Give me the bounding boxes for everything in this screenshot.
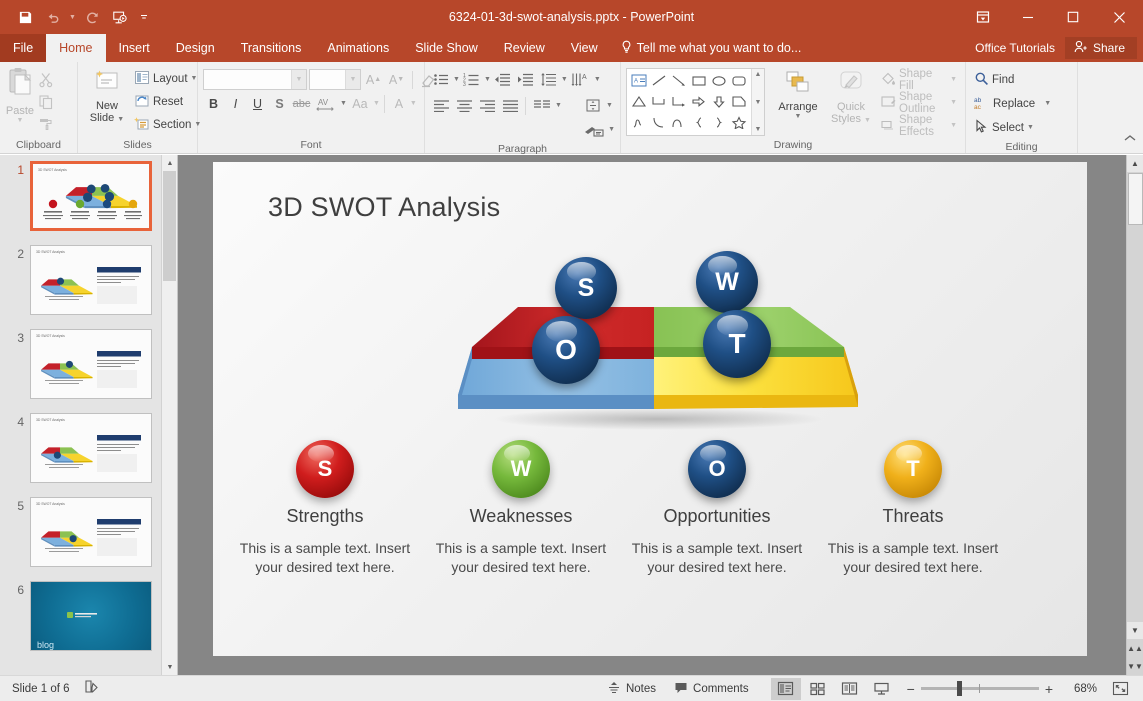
slide-thumbnail-1[interactable]: 1 3D SWOT Analysis: [0, 155, 177, 239]
tab-animations[interactable]: Animations: [314, 34, 402, 62]
slide-show-view-button[interactable]: [867, 678, 897, 700]
search-icon: [974, 71, 989, 89]
find-label: Find: [992, 74, 1014, 86]
scrollbar-thumb[interactable]: [1128, 173, 1143, 225]
legend-text-threats[interactable]: This is a sample text. Insert your desir…: [818, 539, 1008, 577]
font-color-dropdown-icon[interactable]: ▼: [410, 100, 417, 107]
cut-icon[interactable]: [35, 69, 57, 90]
tab-review[interactable]: Review: [491, 34, 558, 62]
layout-label: Layout: [153, 73, 188, 85]
legend-name-opportunities: Opportunities: [622, 506, 812, 527]
zoom-level[interactable]: 68%: [1063, 683, 1097, 695]
ribbon-group-paragraph: ▼ 123 ▼ ▼ A: [425, 62, 621, 153]
slide-number-4: 4: [8, 413, 24, 429]
reset-button[interactable]: Reset: [131, 91, 204, 112]
font-name-dropdown-icon[interactable]: ▼: [291, 70, 306, 89]
legend-orb-s: S: [296, 440, 354, 498]
present-icon[interactable]: [107, 5, 133, 29]
share-label: Share: [1093, 41, 1125, 55]
swot-3d-platform[interactable]: S W O T: [458, 267, 858, 427]
shape-arc-icon[interactable]: [669, 112, 689, 133]
tab-view[interactable]: View: [558, 34, 611, 62]
font-name-input[interactable]: ▼: [203, 69, 307, 90]
shape-rectangle-icon[interactable]: [689, 70, 709, 91]
maximize-icon[interactable]: [1050, 0, 1095, 34]
shape-elbow-connector-icon[interactable]: [649, 91, 669, 112]
tab-row-right: Office Tutorials Share: [965, 34, 1143, 62]
line-spacing-icon[interactable]: [538, 69, 560, 90]
shape-fill-button[interactable]: Shape Fill ▼: [877, 69, 960, 90]
shape-effects-button[interactable]: Shape Effects ▼: [877, 115, 960, 136]
align-right-icon[interactable]: [476, 95, 498, 116]
thumb-scrollbar-thumb[interactable]: [163, 171, 176, 281]
slide-thumb-image-2[interactable]: 3D SWOT Analysis: [30, 245, 152, 315]
svg-text:ac: ac: [974, 104, 982, 110]
numbering-icon[interactable]: 123: [461, 69, 483, 90]
platform-marker-o[interactable]: O: [532, 316, 600, 384]
increase-font-size-icon[interactable]: A▲: [363, 69, 384, 90]
change-case-button[interactable]: Aa: [348, 93, 372, 114]
shape-effects-icon: [880, 117, 896, 135]
tell-me-text: Tell me what you want to do...: [637, 41, 802, 55]
font-color-button[interactable]: A: [389, 93, 409, 114]
slide-number-2: 2: [8, 245, 24, 261]
shape-effects-label: Shape Effects: [899, 114, 947, 138]
svg-text:blog: blog: [37, 640, 54, 650]
platform-marker-w[interactable]: W: [696, 251, 758, 313]
bullets-icon[interactable]: [430, 69, 452, 90]
legend-item-strengths[interactable]: S Strengths This is a sample text. Inser…: [230, 440, 420, 577]
replace-button[interactable]: abac Replace ▼: [971, 93, 1054, 114]
ribbon-display-options-icon[interactable]: [960, 0, 1005, 34]
svg-text:A: A: [582, 74, 587, 81]
paste-icon: [5, 67, 35, 104]
align-text-icon[interactable]: [581, 95, 605, 116]
zoom-track[interactable]: [921, 687, 1039, 690]
account-name[interactable]: Office Tutorials: [965, 41, 1065, 55]
justify-icon[interactable]: [499, 95, 521, 116]
shape-star-icon[interactable]: [729, 112, 749, 133]
previous-slide-icon[interactable]: ▲▲: [1127, 640, 1143, 657]
new-slide-button[interactable]: New Slide ▼: [83, 67, 131, 126]
slide-thumb-image-5[interactable]: 3D SWOT Analysis: [30, 497, 152, 567]
shape-right-arrow-icon[interactable]: [689, 91, 709, 112]
slide-title[interactable]: 3D SWOT Analysis: [268, 192, 500, 223]
shape-fill-label: Shape Fill: [899, 68, 947, 92]
ribbon-group-drawing: A: [621, 62, 966, 153]
svg-text:ab: ab: [974, 97, 982, 104]
replace-icon: abac: [974, 95, 990, 113]
arrange-icon: [782, 70, 814, 99]
shape-rounded-rect-icon[interactable]: [729, 70, 749, 91]
legend-item-opportunities[interactable]: O Opportunities This is a sample text. I…: [622, 440, 812, 577]
quick-styles-label-2: Styles: [831, 113, 861, 125]
ribbon: Paste ▼ Clipboard: [0, 62, 1143, 154]
next-slide-icon[interactable]: ▼▼: [1127, 658, 1143, 675]
shape-outline-button[interactable]: Shape Outline ▼: [877, 92, 960, 113]
zoom-handle[interactable]: [957, 681, 962, 696]
thumb-scroll-down-icon[interactable]: ▼: [162, 659, 178, 675]
font-size-dropdown-icon[interactable]: ▼: [345, 70, 360, 89]
group-label-font: Font: [198, 138, 424, 153]
powerpoint-window: ▼ 6324-01-3d-swot-analysis.pptx - PowerP…: [0, 0, 1143, 701]
select-button[interactable]: Select ▼: [971, 117, 1054, 138]
bold-button[interactable]: B: [203, 93, 224, 114]
legend-name-threats: Threats: [818, 506, 1008, 527]
group-label-drawing: Drawing: [621, 138, 965, 153]
align-left-icon[interactable]: [430, 95, 452, 116]
tell-me-search[interactable]: Tell me what you want to do...: [611, 34, 812, 62]
notes-page-icon[interactable]: [84, 679, 100, 699]
underline-button[interactable]: U: [247, 93, 268, 114]
fit-to-window-icon[interactable]: [1105, 678, 1135, 700]
cursor-icon: [974, 119, 989, 137]
ribbon-group-editing: Find abac Replace ▼ Select: [966, 62, 1078, 153]
section-button[interactable]: Section ▼: [131, 114, 204, 135]
ribbon-group-slides: New Slide ▼ Layout ▼: [78, 62, 198, 153]
legend-name-strengths: Strengths: [230, 506, 420, 527]
strikethrough-button[interactable]: abc: [291, 93, 312, 114]
text-direction-icon[interactable]: A: [569, 69, 593, 90]
align-center-icon[interactable]: [453, 95, 475, 116]
select-dropdown-icon[interactable]: ▼: [1027, 124, 1034, 131]
align-text-dropdown-icon[interactable]: ▼: [606, 102, 613, 109]
thumb-scroll-up-icon[interactable]: ▲: [162, 155, 178, 171]
section-label: Section: [153, 119, 191, 131]
quick-styles-icon: [835, 70, 867, 99]
svg-text:AV: AV: [318, 98, 329, 107]
replace-label: Replace: [993, 98, 1035, 110]
shape-line-icon[interactable]: [649, 70, 669, 91]
platform-marker-o-label: O: [555, 334, 577, 366]
tab-insert[interactable]: Insert: [106, 34, 163, 62]
shape-elbow-arrow-icon[interactable]: [669, 91, 689, 112]
italic-button[interactable]: I: [225, 93, 246, 114]
minimize-icon[interactable]: [1005, 0, 1050, 34]
increase-indent-icon[interactable]: [515, 69, 537, 90]
convert-to-smartart-icon[interactable]: [581, 119, 607, 140]
shape-arrow-icon[interactable]: [669, 70, 689, 91]
slide-thumb-image-4[interactable]: 3D SWOT Analysis: [30, 413, 152, 483]
text-direction-dropdown-icon[interactable]: ▼: [594, 76, 601, 83]
reset-icon: [134, 93, 150, 111]
slide-thumbnail-2[interactable]: 2 3D SWOT Analysis: [0, 239, 177, 323]
shape-outline-icon: [880, 94, 896, 112]
scroll-down-icon[interactable]: ▼: [1127, 622, 1143, 639]
numbering-dropdown-icon[interactable]: ▼: [484, 76, 491, 83]
main-vertical-scrollbar[interactable]: ▲ ▼ ▲▲ ▼▼: [1126, 155, 1143, 675]
decrease-indent-icon[interactable]: [492, 69, 514, 90]
legend-text-weaknesses[interactable]: This is a sample text. Insert your desir…: [426, 539, 616, 577]
tab-transitions[interactable]: Transitions: [228, 34, 315, 62]
legend-orb-w-label: W: [511, 456, 532, 482]
redo-icon[interactable]: [79, 5, 105, 29]
shape-outline-label: Shape Outline: [899, 91, 947, 115]
shape-down-arrow-icon[interactable]: [709, 91, 729, 112]
shape-outline-dropdown-icon[interactable]: ▼: [950, 99, 957, 106]
columns-icon[interactable]: [530, 95, 554, 116]
legend-text-strengths[interactable]: This is a sample text. Insert your desir…: [230, 539, 420, 577]
smartart-dropdown-icon[interactable]: ▼: [608, 126, 615, 133]
undo-icon[interactable]: [40, 5, 66, 29]
slide-number-3: 3: [8, 329, 24, 345]
shape-oval-icon[interactable]: [709, 70, 729, 91]
shape-pentagon-icon[interactable]: [729, 91, 749, 112]
platform-svg: [458, 267, 858, 432]
slide-thumbnail-5[interactable]: 5 3D SWOT Analysis: [0, 491, 177, 575]
status-bar: Slide 1 of 6 Notes Comments: [0, 675, 1143, 701]
tab-home[interactable]: Home: [46, 34, 105, 62]
platform-marker-t-label: T: [728, 328, 745, 360]
slide-sorter-view-button[interactable]: [803, 678, 833, 700]
layout-dropdown-icon[interactable]: ▼: [191, 75, 198, 82]
quick-styles-label-1: Quick: [837, 101, 865, 113]
tab-design[interactable]: Design: [163, 34, 228, 62]
group-label-editing: Editing: [966, 140, 1077, 155]
line-spacing-dropdown-icon[interactable]: ▼: [561, 76, 568, 83]
share-person-icon: [1074, 40, 1088, 56]
lightbulb-icon: [621, 40, 632, 57]
platform-marker-s[interactable]: S: [555, 257, 617, 319]
copy-icon[interactable]: [35, 91, 57, 112]
paste-dropdown-icon[interactable]: ▼: [17, 117, 24, 124]
tab-slide-show[interactable]: Slide Show: [402, 34, 491, 62]
find-button[interactable]: Find: [971, 69, 1054, 90]
ribbon-tabs: File Home Insert Design Transitions Anim…: [0, 34, 1143, 62]
text-shadow-button[interactable]: S: [269, 93, 290, 114]
slide-thumbnail-3[interactable]: 3 3D SWOT Analysis: [0, 323, 177, 407]
paste-button[interactable]: Paste ▼: [5, 67, 35, 124]
scroll-up-icon[interactable]: ▲: [1127, 155, 1143, 172]
collapse-ribbon-icon[interactable]: [1123, 131, 1137, 149]
undo-dropdown-icon[interactable]: ▼: [68, 5, 77, 29]
new-slide-label-1: New: [96, 100, 118, 112]
save-icon[interactable]: [12, 5, 38, 29]
slide-number-1: 1: [8, 161, 24, 177]
slide-number-6: 6: [8, 581, 24, 597]
legend-name-weaknesses: Weaknesses: [426, 506, 616, 527]
format-painter-icon[interactable]: [35, 113, 57, 134]
ribbon-group-font: ▼ ▼ A▲ A▼ B I U S: [198, 62, 425, 153]
shape-left-brace-icon[interactable]: [689, 112, 709, 133]
slide-thumbnail-panel[interactable]: 1 3D SWOT Analysis: [0, 155, 178, 675]
share-button[interactable]: Share: [1065, 37, 1137, 59]
zoom-in-icon[interactable]: +: [1045, 682, 1053, 696]
notes-label: Notes: [626, 683, 656, 695]
shape-effects-dropdown-icon[interactable]: ▼: [950, 122, 957, 129]
change-case-dropdown-icon[interactable]: ▼: [373, 100, 380, 107]
shapes-gallery[interactable]: A: [626, 68, 765, 136]
layout-button[interactable]: Layout ▼: [131, 68, 204, 89]
reset-label: Reset: [153, 96, 183, 108]
character-spacing-dropdown-icon[interactable]: ▼: [340, 100, 347, 107]
legend-orb-s-label: S: [318, 456, 333, 482]
select-label: Select: [992, 122, 1024, 134]
notes-button[interactable]: Notes: [599, 679, 664, 699]
new-slide-icon: [92, 69, 122, 98]
comment-icon: [674, 681, 688, 697]
group-label-slides: Slides: [78, 138, 197, 153]
new-slide-dropdown-icon[interactable]: ▼: [117, 116, 124, 123]
gallery-scroll-up-icon[interactable]: ▲: [755, 71, 762, 78]
slide-thumbnail-4[interactable]: 4 3D SWOT Analysis: [0, 407, 177, 491]
legend-orb-o-label: O: [708, 456, 725, 482]
platform-marker-t[interactable]: T: [703, 310, 771, 378]
quick-access-toolbar: ▼: [0, 5, 153, 29]
platform-marker-w-label: W: [715, 268, 739, 297]
legend-item-threats[interactable]: T Threats This is a sample text. Insert …: [818, 440, 1008, 577]
comments-label: Comments: [693, 683, 749, 695]
slide-counter: Slide 1 of 6: [12, 683, 70, 695]
character-spacing-button[interactable]: AV: [313, 93, 339, 114]
layout-icon: [134, 70, 150, 88]
shape-right-brace-icon[interactable]: [709, 112, 729, 133]
zoom-slider[interactable]: − +: [899, 682, 1061, 696]
slide-edit-area: 3D SWOT Analysis: [178, 155, 1126, 675]
close-icon[interactable]: [1095, 0, 1143, 34]
window-controls: [960, 0, 1143, 34]
legend-orb-w: W: [492, 440, 550, 498]
legend-orb-t: T: [884, 440, 942, 498]
slide-thumb-image-3[interactable]: 3D SWOT Analysis: [30, 329, 152, 399]
platform-marker-s-label: S: [578, 274, 595, 303]
slide-number-5: 5: [8, 497, 24, 513]
notes-icon: [607, 681, 621, 697]
slide-thumbnail-6[interactable]: 6 blog: [0, 575, 177, 659]
legend-item-weaknesses[interactable]: W Weaknesses This is a sample text. Inse…: [426, 440, 616, 577]
shape-triangle-icon[interactable]: [629, 91, 649, 112]
quick-styles-dropdown-icon[interactable]: ▼: [864, 117, 871, 124]
legend-text-opportunities[interactable]: This is a sample text. Insert your desir…: [622, 539, 812, 577]
section-icon: [134, 116, 150, 134]
svg-text:3: 3: [463, 82, 466, 87]
shape-textbox-icon[interactable]: A: [629, 70, 649, 91]
ribbon-group-clipboard: Paste ▼ Clipboard: [0, 62, 78, 153]
title-bar: ▼ 6324-01-3d-swot-analysis.pptx - PowerP…: [0, 0, 1143, 34]
thumbnail-panel-scrollbar[interactable]: ▲ ▼: [161, 155, 177, 675]
paste-label: Paste: [6, 105, 34, 117]
zoom-track-midpoint: [979, 684, 980, 693]
slide-thumb-image-6[interactable]: blog: [30, 581, 152, 651]
gallery-scroll-down-icon[interactable]: ▼: [755, 99, 762, 106]
comments-button[interactable]: Comments: [666, 679, 757, 699]
bullets-dropdown-icon[interactable]: ▼: [453, 76, 460, 83]
group-label-clipboard: Clipboard: [0, 138, 77, 153]
quick-styles-button[interactable]: Quick Styles ▼: [825, 68, 877, 127]
shape-scribble-icon[interactable]: [629, 112, 649, 133]
slide-thumb-image-1[interactable]: 3D SWOT Analysis: [30, 161, 152, 231]
customize-qat-icon[interactable]: [135, 5, 153, 29]
slide-canvas[interactable]: 3D SWOT Analysis: [213, 162, 1087, 656]
svg-text:A: A: [634, 79, 638, 85]
shapes-gallery-scrollbar[interactable]: ▲ ▼ ▼: [751, 69, 764, 135]
arrange-label: Arrange: [778, 101, 817, 113]
zoom-out-icon[interactable]: −: [907, 682, 915, 696]
replace-dropdown-icon[interactable]: ▼: [1044, 100, 1051, 107]
normal-view-button[interactable]: [771, 678, 801, 700]
columns-dropdown-icon[interactable]: ▼: [555, 102, 562, 109]
decrease-font-size-icon[interactable]: A▼: [386, 69, 407, 90]
arrange-button[interactable]: Arrange ▼: [771, 68, 825, 122]
shape-fill-dropdown-icon[interactable]: ▼: [950, 76, 957, 83]
reading-view-button[interactable]: [835, 678, 865, 700]
shape-fill-icon: [880, 71, 896, 89]
new-slide-label-2: Slide: [90, 112, 114, 124]
tab-file[interactable]: File: [0, 34, 46, 62]
shape-curve-icon[interactable]: [649, 112, 669, 133]
gallery-expand-icon[interactable]: ▼: [755, 126, 762, 133]
legend-orb-t-label: T: [906, 456, 919, 482]
legend-orb-o: O: [688, 440, 746, 498]
arrange-dropdown-icon[interactable]: ▼: [795, 113, 802, 120]
font-size-input[interactable]: ▼: [309, 69, 361, 90]
